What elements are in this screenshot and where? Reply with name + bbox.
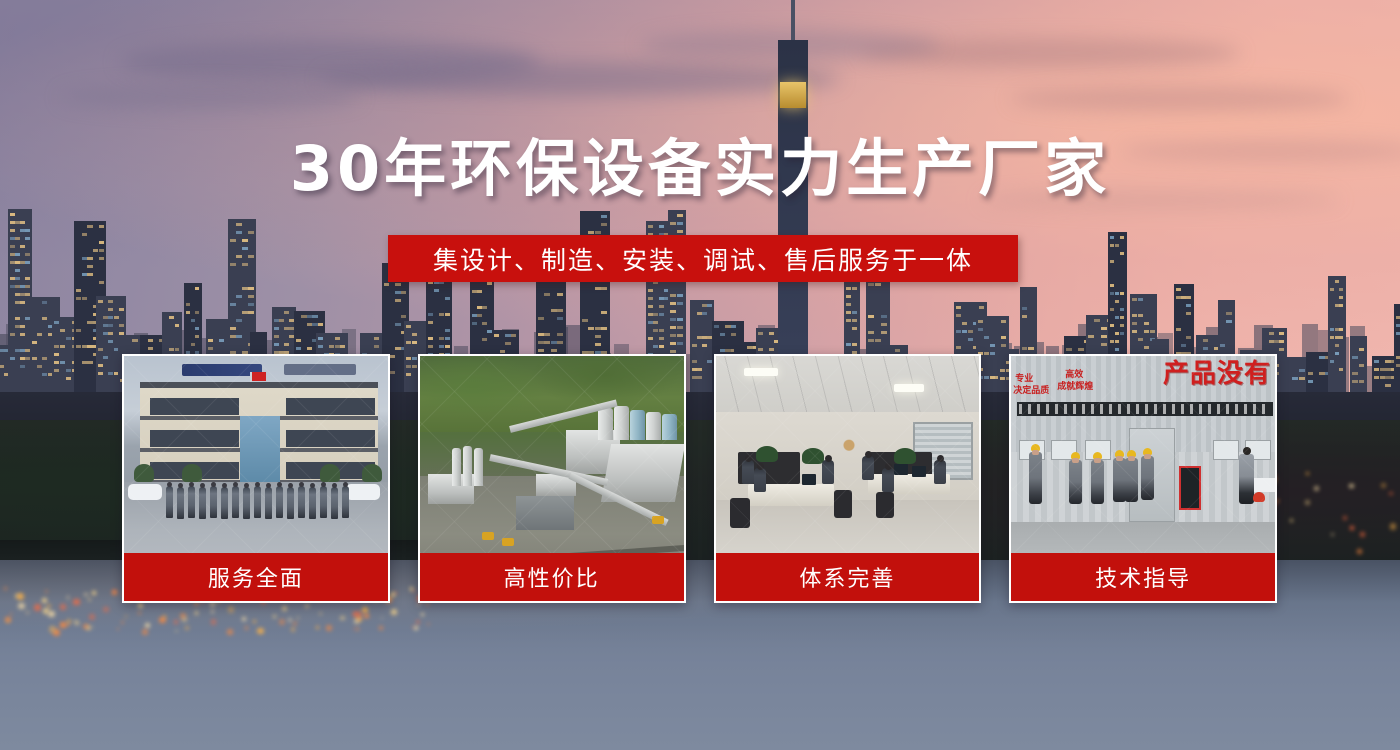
computer-monitor — [894, 464, 908, 475]
factory-side-door — [1179, 466, 1201, 510]
ceiling-light — [744, 368, 778, 376]
worker — [1091, 460, 1104, 504]
wall-decal — [836, 432, 862, 454]
office-chair — [834, 490, 852, 518]
page-title: 30年环保设备实力生产厂家 — [0, 132, 1400, 206]
potted-plant — [802, 448, 824, 464]
worker — [1069, 460, 1082, 504]
employee — [934, 460, 946, 484]
company-office-building-photo — [124, 356, 388, 553]
office-building — [140, 382, 378, 482]
plant-building — [516, 496, 574, 530]
aerial-production-plant-photo — [420, 356, 684, 553]
silo — [463, 446, 472, 486]
wall-banner-strip — [1017, 402, 1273, 416]
supervisor — [1239, 454, 1254, 504]
feature-card[interactable]: 体系完善 — [714, 354, 982, 603]
feature-card-caption: 技术指导 — [1011, 553, 1275, 601]
ceiling-light — [894, 384, 924, 392]
employee — [742, 460, 754, 484]
promo-banner: 30年环保设备实力生产厂家 集设计、制造、安装、调试、售后服务于一体 — [0, 0, 1400, 750]
feature-card[interactable]: 产品没有 专业 决定品质 高效 成就辉煌 — [1009, 354, 1277, 603]
silo — [662, 414, 677, 440]
employee — [822, 460, 834, 484]
wall-slogan: 高效 — [1065, 370, 1083, 380]
ceiling — [716, 356, 980, 414]
wall-slogan: 专业 — [1015, 374, 1033, 384]
employee — [754, 468, 766, 492]
worker — [1029, 452, 1042, 504]
potted-plant — [756, 446, 778, 462]
feature-card[interactable]: 服务全面 — [122, 354, 390, 603]
factory-window — [1213, 440, 1239, 460]
feature-card[interactable]: 高性价比 — [418, 354, 686, 603]
office-chair — [876, 492, 894, 518]
workers-training-photo: 产品没有 专业 决定品质 高效 成就辉煌 — [1011, 356, 1275, 553]
factory-yard-ground — [1011, 522, 1275, 553]
office-interior-staff-photo — [716, 356, 980, 553]
worker — [1141, 456, 1154, 500]
silo — [474, 448, 483, 486]
silo — [614, 406, 629, 440]
subtitle-banner: 集设计、制造、安装、调试、售后服务于一体 — [388, 235, 1018, 282]
computer-monitor — [912, 466, 926, 477]
employee — [882, 468, 894, 492]
feature-card-caption: 高性价比 — [420, 553, 684, 601]
silo — [452, 448, 461, 486]
office-chair — [730, 498, 750, 528]
feature-card-list: 服务全面 — [122, 354, 1277, 603]
silo — [598, 408, 613, 440]
subtitle-text: 集设计、制造、安装、调试、售后服务于一体 — [433, 241, 973, 277]
silo — [630, 410, 645, 440]
wall-slogan: 成就辉煌 — [1057, 382, 1093, 392]
computer-monitor — [802, 474, 816, 485]
employee — [862, 456, 874, 480]
feature-card-caption: 体系完善 — [716, 553, 980, 601]
wall-slogan: 决定品质 — [1013, 386, 1049, 396]
worker — [1125, 458, 1138, 502]
potted-plant — [894, 448, 916, 464]
feature-card-caption: 服务全面 — [124, 553, 388, 601]
building-phone-signage — [284, 364, 356, 375]
red-helmet-icon — [1253, 492, 1265, 502]
factory-wall-text: 产品没有 — [1163, 360, 1271, 388]
silo — [646, 412, 661, 440]
flag-icon — [252, 372, 266, 381]
